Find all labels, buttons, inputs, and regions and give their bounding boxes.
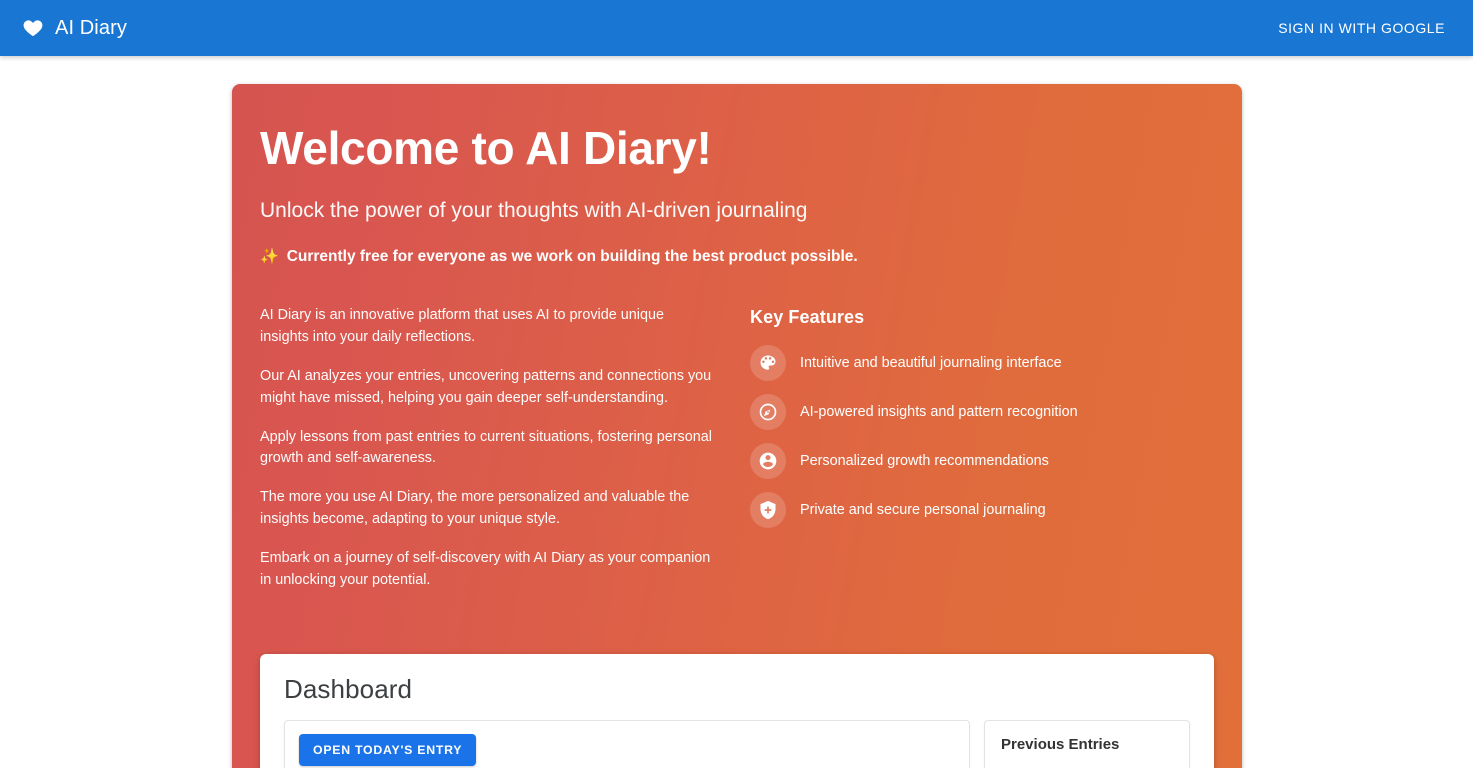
description-paragraph: Embark on a journey of self-discovery wi…	[260, 548, 714, 592]
description-paragraph: AI Diary is an innovative platform that …	[260, 305, 714, 349]
description-paragraph: Our AI analyzes your entries, uncovering…	[260, 366, 714, 410]
hero-description-column: AI Diary is an innovative platform that …	[260, 305, 750, 592]
feature-item: Private and secure personal journaling	[750, 486, 1205, 535]
sign-in-with-google-button[interactable]: SIGN IN WITH GOOGLE	[1270, 12, 1453, 44]
palette-icon	[750, 345, 786, 381]
shield-icon	[750, 492, 786, 528]
hero-panel: Welcome to AI Diary! Unlock the power of…	[232, 84, 1242, 768]
brand-title: AI Diary	[55, 18, 127, 38]
dashboard-preview-card: Dashboard OPEN TODAY'S ENTRY Yesterday's…	[260, 654, 1214, 768]
feature-label: Private and secure personal journaling	[800, 501, 1046, 520]
key-features-heading: Key Features	[750, 307, 1205, 328]
feature-item: Personalized growth recommendations	[750, 437, 1205, 486]
dashboard-main-column: OPEN TODAY'S ENTRY Yesterday's insights …	[284, 720, 970, 768]
feature-label: Intuitive and beautiful journaling inter…	[800, 354, 1062, 373]
hero-subtitle: Unlock the power of your thoughts with A…	[260, 197, 1214, 224]
today-entry-box: OPEN TODAY'S ENTRY	[284, 720, 970, 768]
brand: AI Diary	[22, 17, 127, 39]
description-paragraph: The more you use AI Diary, the more pers…	[260, 487, 714, 531]
description-paragraph: Apply lessons from past entries to curre…	[260, 427, 714, 471]
app-bar: AI Diary SIGN IN WITH GOOGLE	[0, 0, 1473, 56]
feature-label: Personalized growth recommendations	[800, 452, 1049, 471]
page-title: Welcome to AI Diary!	[260, 123, 1214, 175]
account-circle-icon	[750, 443, 786, 479]
hero-free-note-text: Currently free for everyone as we work o…	[287, 247, 858, 267]
dashboard-body: OPEN TODAY'S ENTRY Yesterday's insights …	[284, 720, 1190, 768]
page-body: Welcome to AI Diary! Unlock the power of…	[0, 56, 1473, 768]
open-todays-entry-button[interactable]: OPEN TODAY'S ENTRY	[299, 734, 476, 766]
previous-entries-panel: Previous Entries 10/17/2024 Struggling w…	[984, 720, 1190, 768]
hero-free-note: ✨ Currently free for everyone as we work…	[260, 247, 1214, 267]
sparkles-icon: ✨	[260, 249, 279, 264]
feature-item: AI-powered insights and pattern recognit…	[750, 388, 1205, 437]
hero-columns: AI Diary is an innovative platform that …	[260, 305, 1214, 592]
heart-icon	[22, 17, 44, 39]
dashboard-title: Dashboard	[284, 674, 1190, 705]
feature-item: Intuitive and beautiful journaling inter…	[750, 339, 1205, 388]
compass-icon	[750, 394, 786, 430]
feature-label: AI-powered insights and pattern recognit…	[800, 403, 1078, 422]
previous-entries-title: Previous Entries	[1001, 736, 1173, 753]
key-features-column: Key Features Intuitive and beautiful jou…	[750, 305, 1205, 592]
